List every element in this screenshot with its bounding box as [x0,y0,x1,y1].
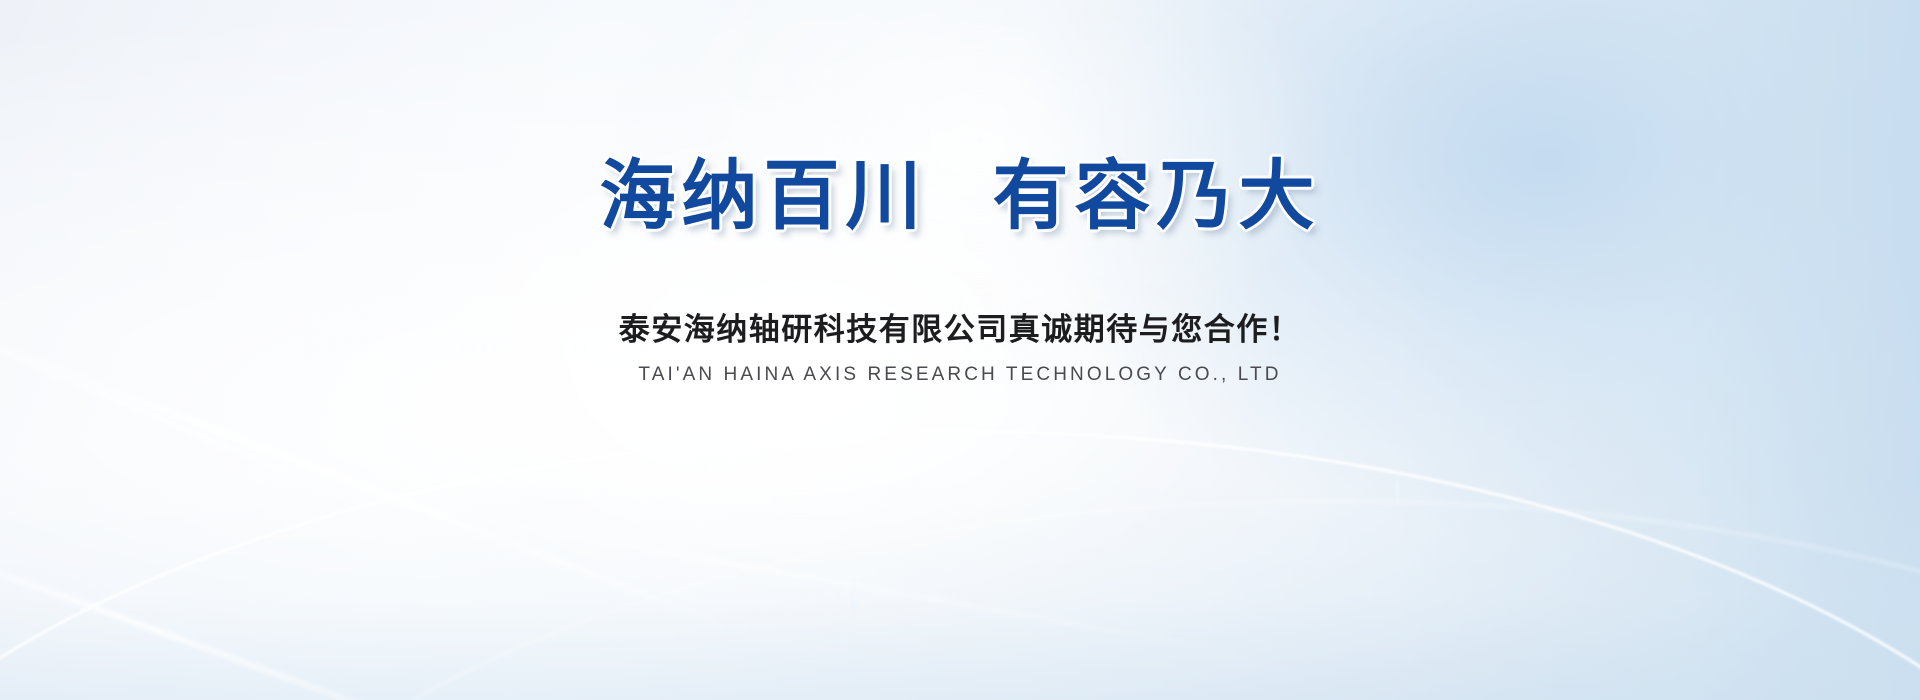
hero-banner: 海纳百川 有容乃大 泰安海纳轴研科技有限公司真诚期待与您合作！ TAI'AN H… [0,0,1920,700]
banner-subtitle-english: TAI'AN HAINA AXIS RESEARCH TECHNOLOGY CO… [0,364,1920,387]
banner-subtitle-chinese: 泰安海纳轴研科技有限公司真诚期待与您合作！ [0,312,1920,349]
banner-content: 海纳百川 有容乃大 泰安海纳轴研科技有限公司真诚期待与您合作！ TAI'AN H… [0,0,1920,700]
banner-headline: 海纳百川 有容乃大 [0,158,1920,234]
